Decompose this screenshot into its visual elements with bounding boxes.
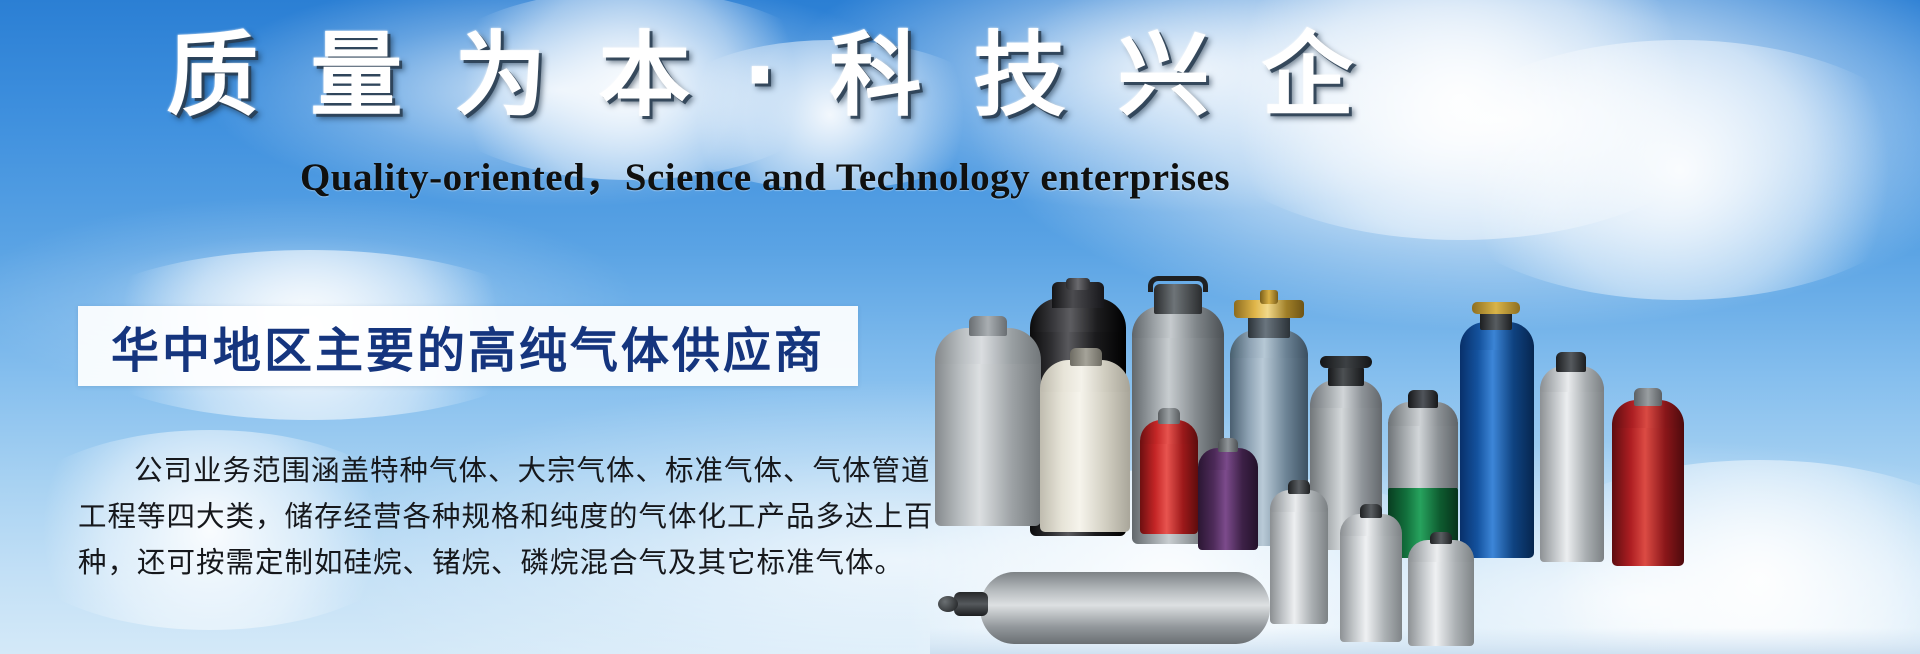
cylinder-cap: [1218, 438, 1238, 452]
cylinder-body: [1408, 556, 1474, 646]
body-line: 公司业务范围涵盖特种气体、大宗气体、标准气体、气体管道: [78, 448, 868, 494]
cylinder-cap: [1430, 532, 1452, 544]
cylinder-red-small: [1140, 406, 1198, 534]
tagline-text: 华中地区主要的高纯气体供应商: [111, 311, 825, 381]
cylinder-cap: [1634, 388, 1662, 406]
cylinder-valve: [954, 592, 988, 616]
cylinder-horizontal: [980, 558, 1270, 644]
cylinder-body: [1460, 342, 1534, 558]
tagline-box: 华中地区主要的高纯气体供应商: [78, 306, 858, 386]
cylinder-valve: [1066, 278, 1090, 290]
cylinder-body: [1540, 384, 1604, 562]
cylinder-cap: [1360, 504, 1382, 518]
cylinder-body: [1612, 420, 1684, 566]
cylinder-valve-stem: [1260, 290, 1278, 304]
cylinder-valve-knob: [1472, 302, 1520, 314]
cylinder-body: [1198, 464, 1258, 550]
promo-banner: 质 量 为 本 · 科 技 兴 企 Quality-oriented，Scien…: [0, 0, 1920, 654]
cylinder-front-aluminium-a: [1340, 502, 1402, 642]
cylinder-body: [1040, 384, 1130, 532]
gas-cylinder-group: [940, 150, 1920, 654]
cylinder-aluminium-small: [1270, 478, 1328, 624]
cylinder-light-grey: [935, 318, 1041, 526]
cylinder-cap: [1408, 390, 1438, 408]
cylinder-handle: [1148, 276, 1208, 292]
body-line: 种，还可按需定制如硅烷、锗烷、磷烷混合气及其它标准气体。: [78, 540, 868, 586]
banner-body-copy: 公司业务范围涵盖特种气体、大宗气体、标准气体、气体管道 工程等四大类，储存经营各…: [78, 448, 868, 586]
banner-headline: 质 量 为 本 · 科 技 兴 企: [0, 24, 1530, 127]
cylinder-aluminium: [1540, 346, 1604, 562]
cylinder-body: [935, 356, 1041, 526]
cylinder-body: [1140, 438, 1198, 534]
cylinder-cap: [1556, 352, 1586, 372]
cylinder-cap: [969, 316, 1007, 336]
body-line: 工程等四大类，储存经营各种规格和纯度的气体化工产品多达上百: [78, 494, 868, 540]
cylinder-body: [1340, 530, 1402, 642]
cylinder-body: [980, 572, 1270, 644]
cylinder-cap: [1158, 408, 1180, 424]
cylinder-valve-cap: [938, 596, 958, 612]
cylinder-body-upper: [1388, 422, 1458, 488]
cylinder-body: [1270, 506, 1328, 624]
cylinder-dark-red: [1612, 384, 1684, 566]
cylinder-blue-tall: [1460, 300, 1534, 558]
cylinder-cap: [1070, 348, 1102, 366]
cylinder-cream: [1040, 352, 1130, 532]
cylinder-cap: [1288, 480, 1310, 494]
cylinder-purple-small: [1198, 438, 1258, 550]
cylinder-valve-handle: [1320, 356, 1372, 368]
cylinder-front-aluminium-b: [1408, 530, 1474, 646]
